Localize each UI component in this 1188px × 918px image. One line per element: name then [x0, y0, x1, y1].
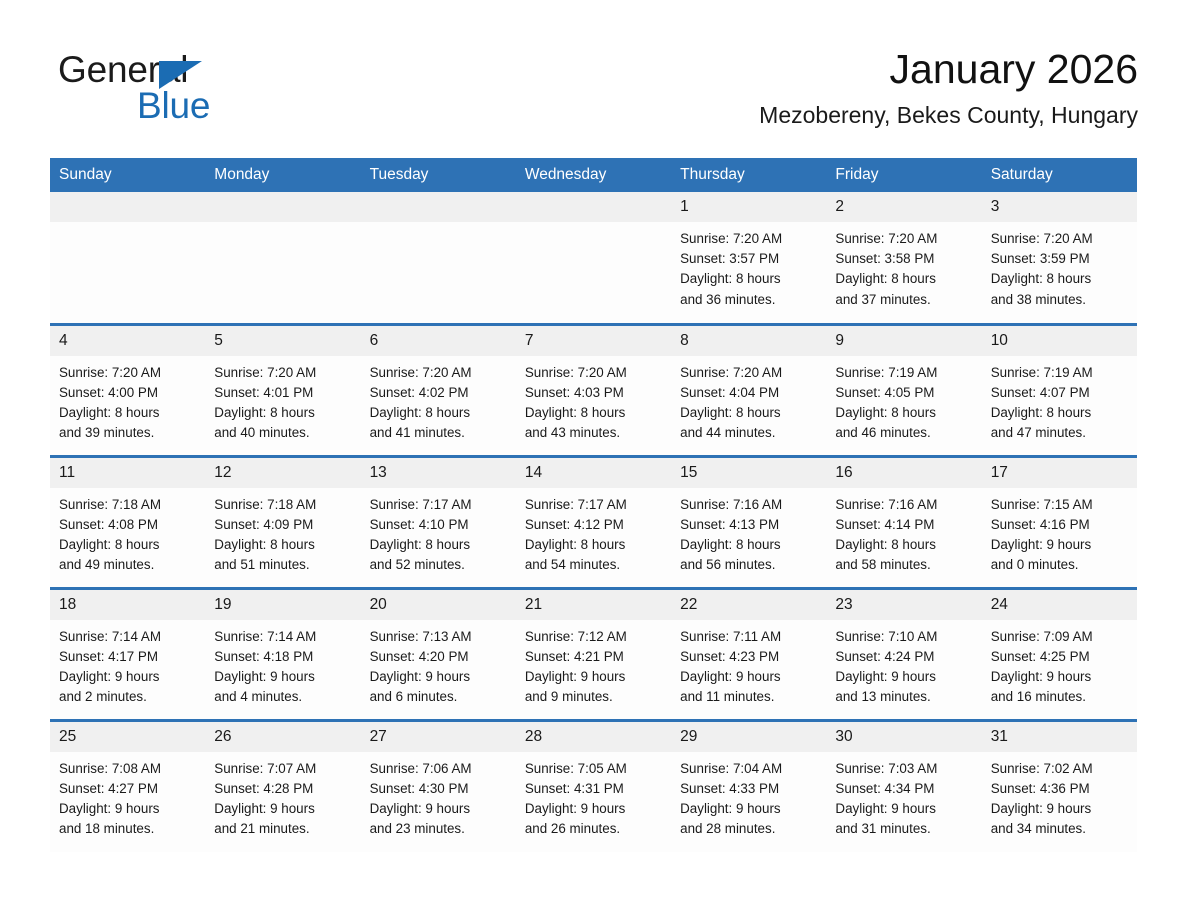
sunrise-text: Sunrise: 7:10 AM: [835, 627, 973, 647]
calendar-week-row: 4Sunrise: 7:20 AMSunset: 4:00 PMDaylight…: [50, 324, 1137, 456]
daylight-text-line1: Daylight: 8 hours: [835, 535, 973, 555]
calendar-week-row: 11Sunrise: 7:18 AMSunset: 4:08 PMDayligh…: [50, 456, 1137, 588]
daylight-text-line2: and 6 minutes.: [370, 687, 508, 707]
daylight-text-line1: Daylight: 9 hours: [59, 667, 197, 687]
sunrise-text: Sunrise: 7:07 AM: [214, 759, 352, 779]
day-details: Sunrise: 7:16 AMSunset: 4:14 PMDaylight:…: [826, 488, 981, 576]
sunset-text: Sunset: 4:14 PM: [835, 515, 973, 535]
sunrise-text: Sunrise: 7:16 AM: [680, 495, 818, 515]
day-number: 6: [361, 326, 516, 356]
day-details: Sunrise: 7:05 AMSunset: 4:31 PMDaylight:…: [516, 752, 671, 840]
logo-text-blue: Blue: [137, 86, 210, 126]
day-cell[interactable]: 25Sunrise: 7:08 AMSunset: 4:27 PMDayligh…: [50, 720, 205, 852]
daylight-text-line1: Daylight: 8 hours: [525, 403, 663, 423]
calendar-week-row: 18Sunrise: 7:14 AMSunset: 4:17 PMDayligh…: [50, 588, 1137, 720]
sunset-text: Sunset: 4:23 PM: [680, 647, 818, 667]
daylight-text-line2: and 36 minutes.: [680, 290, 818, 310]
sunrise-text: Sunrise: 7:18 AM: [214, 495, 352, 515]
day-details: Sunrise: 7:03 AMSunset: 4:34 PMDaylight:…: [826, 752, 981, 840]
day-cell[interactable]: 13Sunrise: 7:17 AMSunset: 4:10 PMDayligh…: [361, 456, 516, 588]
daylight-text-line2: and 0 minutes.: [991, 555, 1129, 575]
sunrise-text: Sunrise: 7:17 AM: [525, 495, 663, 515]
day-details: Sunrise: 7:18 AMSunset: 4:08 PMDaylight:…: [50, 488, 205, 576]
day-number: 5: [205, 326, 360, 356]
day-number: 18: [50, 590, 205, 620]
day-number: 21: [516, 590, 671, 620]
day-number: 22: [671, 590, 826, 620]
daylight-text-line1: Daylight: 9 hours: [680, 799, 818, 819]
sunset-text: Sunset: 4:07 PM: [991, 383, 1129, 403]
daylight-text-line2: and 4 minutes.: [214, 687, 352, 707]
sunset-text: Sunset: 3:58 PM: [835, 249, 973, 269]
day-cell[interactable]: 28Sunrise: 7:05 AMSunset: 4:31 PMDayligh…: [516, 720, 671, 852]
sunrise-text: Sunrise: 7:20 AM: [525, 363, 663, 383]
daylight-text-line2: and 21 minutes.: [214, 819, 352, 839]
day-number: 10: [982, 326, 1137, 356]
sunrise-text: Sunrise: 7:19 AM: [835, 363, 973, 383]
daylight-text-line2: and 23 minutes.: [370, 819, 508, 839]
daylight-text-line2: and 40 minutes.: [214, 423, 352, 443]
day-number: 3: [982, 192, 1137, 222]
page-subtitle: Mezobereny, Bekes County, Hungary: [759, 94, 1138, 132]
day-number: [205, 192, 360, 222]
day-cell[interactable]: 26Sunrise: 7:07 AMSunset: 4:28 PMDayligh…: [205, 720, 360, 852]
daylight-text-line1: Daylight: 9 hours: [680, 667, 818, 687]
day-details: Sunrise: 7:20 AMSunset: 4:00 PMDaylight:…: [50, 356, 205, 444]
sunrise-text: Sunrise: 7:15 AM: [991, 495, 1129, 515]
calendar-header-row: Sunday Monday Tuesday Wednesday Thursday…: [50, 158, 1137, 192]
day-details: Sunrise: 7:12 AMSunset: 4:21 PMDaylight:…: [516, 620, 671, 708]
day-details: Sunrise: 7:13 AMSunset: 4:20 PMDaylight:…: [361, 620, 516, 708]
daylight-text-line1: Daylight: 8 hours: [991, 403, 1129, 423]
day-cell[interactable]: 10Sunrise: 7:19 AMSunset: 4:07 PMDayligh…: [982, 324, 1137, 456]
day-number: 11: [50, 458, 205, 488]
sunrise-text: Sunrise: 7:20 AM: [370, 363, 508, 383]
calendar-body: 1Sunrise: 7:20 AMSunset: 3:57 PMDaylight…: [50, 192, 1137, 852]
daylight-text-line1: Daylight: 8 hours: [680, 269, 818, 289]
sunrise-text: Sunrise: 7:11 AM: [680, 627, 818, 647]
daylight-text-line2: and 39 minutes.: [59, 423, 197, 443]
daylight-text-line2: and 41 minutes.: [370, 423, 508, 443]
sunrise-text: Sunrise: 7:17 AM: [370, 495, 508, 515]
day-details: Sunrise: 7:04 AMSunset: 4:33 PMDaylight:…: [671, 752, 826, 840]
day-number: 25: [50, 722, 205, 752]
daylight-text-line2: and 31 minutes.: [835, 819, 973, 839]
day-number: 12: [205, 458, 360, 488]
sunset-text: Sunset: 4:09 PM: [214, 515, 352, 535]
day-number: 20: [361, 590, 516, 620]
sunrise-text: Sunrise: 7:14 AM: [214, 627, 352, 647]
daylight-text-line2: and 9 minutes.: [525, 687, 663, 707]
day-cell[interactable]: 5Sunrise: 7:20 AMSunset: 4:01 PMDaylight…: [205, 324, 360, 456]
page-header: General Blue January 2026 Mezobereny, Be…: [50, 44, 1138, 152]
day-cell[interactable]: 21Sunrise: 7:12 AMSunset: 4:21 PMDayligh…: [516, 588, 671, 720]
daylight-text-line2: and 43 minutes.: [525, 423, 663, 443]
day-number: [50, 192, 205, 222]
sunset-text: Sunset: 4:02 PM: [370, 383, 508, 403]
day-number: [516, 192, 671, 222]
day-number: 14: [516, 458, 671, 488]
sunset-text: Sunset: 4:21 PM: [525, 647, 663, 667]
daylight-text-line2: and 58 minutes.: [835, 555, 973, 575]
sunset-text: Sunset: 4:17 PM: [59, 647, 197, 667]
daylight-text-line2: and 26 minutes.: [525, 819, 663, 839]
daylight-text-line1: Daylight: 9 hours: [214, 667, 352, 687]
sunset-text: Sunset: 4:33 PM: [680, 779, 818, 799]
day-details: Sunrise: 7:15 AMSunset: 4:16 PMDaylight:…: [982, 488, 1137, 576]
title-block: January 2026 Mezobereny, Bekes County, H…: [759, 44, 1138, 132]
daylight-text-line1: Daylight: 9 hours: [835, 799, 973, 819]
daylight-text-line1: Daylight: 8 hours: [680, 403, 818, 423]
daylight-text-line2: and 54 minutes.: [525, 555, 663, 575]
daylight-text-line1: Daylight: 8 hours: [370, 535, 508, 555]
sunset-text: Sunset: 3:59 PM: [991, 249, 1129, 269]
sunset-text: Sunset: 4:04 PM: [680, 383, 818, 403]
daylight-text-line1: Daylight: 9 hours: [835, 667, 973, 687]
day-cell[interactable]: 15Sunrise: 7:16 AMSunset: 4:13 PMDayligh…: [671, 456, 826, 588]
sunset-text: Sunset: 4:24 PM: [835, 647, 973, 667]
sunrise-text: Sunrise: 7:18 AM: [59, 495, 197, 515]
sunrise-text: Sunrise: 7:12 AM: [525, 627, 663, 647]
calendar-week-row: 25Sunrise: 7:08 AMSunset: 4:27 PMDayligh…: [50, 720, 1137, 852]
sunrise-text: Sunrise: 7:19 AM: [991, 363, 1129, 383]
generalblue-logo[interactable]: General Blue: [58, 50, 318, 146]
daylight-text-line1: Daylight: 8 hours: [991, 269, 1129, 289]
day-number: 16: [826, 458, 981, 488]
day-number: 4: [50, 326, 205, 356]
sunrise-text: Sunrise: 7:20 AM: [680, 229, 818, 249]
day-cell[interactable]: 6Sunrise: 7:20 AMSunset: 4:02 PMDaylight…: [361, 324, 516, 456]
day-cell[interactable]: 9Sunrise: 7:19 AMSunset: 4:05 PMDaylight…: [826, 324, 981, 456]
sunset-text: Sunset: 4:13 PM: [680, 515, 818, 535]
sunrise-text: Sunrise: 7:05 AM: [525, 759, 663, 779]
day-details: Sunrise: 7:06 AMSunset: 4:30 PMDaylight:…: [361, 752, 516, 840]
daylight-text-line1: Daylight: 8 hours: [214, 403, 352, 423]
day-cell[interactable]: 8Sunrise: 7:20 AMSunset: 4:04 PMDaylight…: [671, 324, 826, 456]
day-cell[interactable]: 14Sunrise: 7:17 AMSunset: 4:12 PMDayligh…: [516, 456, 671, 588]
sunset-text: Sunset: 4:10 PM: [370, 515, 508, 535]
sunset-text: Sunset: 4:08 PM: [59, 515, 197, 535]
sunrise-text: Sunrise: 7:20 AM: [835, 229, 973, 249]
daylight-text-line1: Daylight: 9 hours: [991, 799, 1129, 819]
daylight-text-line2: and 13 minutes.: [835, 687, 973, 707]
sunset-text: Sunset: 3:57 PM: [680, 249, 818, 269]
day-details: Sunrise: 7:20 AMSunset: 3:59 PMDaylight:…: [982, 222, 1137, 310]
daylight-text-line2: and 38 minutes.: [991, 290, 1129, 310]
day-cell[interactable]: 2Sunrise: 7:20 AMSunset: 3:58 PMDaylight…: [826, 192, 981, 324]
daylight-text-line2: and 51 minutes.: [214, 555, 352, 575]
day-details: Sunrise: 7:20 AMSunset: 4:04 PMDaylight:…: [671, 356, 826, 444]
day-details: Sunrise: 7:20 AMSunset: 3:57 PMDaylight:…: [671, 222, 826, 310]
day-number: 29: [671, 722, 826, 752]
sunset-text: Sunset: 4:25 PM: [991, 647, 1129, 667]
day-details: Sunrise: 7:20 AMSunset: 4:01 PMDaylight:…: [205, 356, 360, 444]
daylight-text-line1: Daylight: 8 hours: [680, 535, 818, 555]
day-cell[interactable]: 3Sunrise: 7:20 AMSunset: 3:59 PMDaylight…: [982, 192, 1137, 324]
day-details: Sunrise: 7:20 AMSunset: 4:02 PMDaylight:…: [361, 356, 516, 444]
weekday-header-friday: Friday: [826, 158, 981, 192]
day-number: 9: [826, 326, 981, 356]
day-number: 19: [205, 590, 360, 620]
day-details: Sunrise: 7:02 AMSunset: 4:36 PMDaylight:…: [982, 752, 1137, 840]
day-cell[interactable]: 17Sunrise: 7:15 AMSunset: 4:16 PMDayligh…: [982, 456, 1137, 588]
day-cell[interactable]: 23Sunrise: 7:10 AMSunset: 4:24 PMDayligh…: [826, 588, 981, 720]
day-number: 2: [826, 192, 981, 222]
daylight-text-line1: Daylight: 9 hours: [370, 799, 508, 819]
sunset-text: Sunset: 4:20 PM: [370, 647, 508, 667]
day-details: Sunrise: 7:20 AMSunset: 4:03 PMDaylight:…: [516, 356, 671, 444]
daylight-text-line2: and 56 minutes.: [680, 555, 818, 575]
daylight-text-line1: Daylight: 9 hours: [991, 535, 1129, 555]
day-details: Sunrise: 7:17 AMSunset: 4:12 PMDaylight:…: [516, 488, 671, 576]
day-cell[interactable]: 20Sunrise: 7:13 AMSunset: 4:20 PMDayligh…: [361, 588, 516, 720]
daylight-text-line2: and 37 minutes.: [835, 290, 973, 310]
weekday-header-sunday: Sunday: [50, 158, 205, 192]
weekday-header-tuesday: Tuesday: [361, 158, 516, 192]
sunrise-text: Sunrise: 7:20 AM: [214, 363, 352, 383]
day-cell[interactable]: 7Sunrise: 7:20 AMSunset: 4:03 PMDaylight…: [516, 324, 671, 456]
day-number: 26: [205, 722, 360, 752]
daylight-text-line2: and 52 minutes.: [370, 555, 508, 575]
sunset-text: Sunset: 4:34 PM: [835, 779, 973, 799]
day-details: Sunrise: 7:19 AMSunset: 4:07 PMDaylight:…: [982, 356, 1137, 444]
daylight-text-line1: Daylight: 9 hours: [525, 667, 663, 687]
day-number: 27: [361, 722, 516, 752]
day-cell-empty: [516, 192, 671, 324]
day-cell[interactable]: 16Sunrise: 7:16 AMSunset: 4:14 PMDayligh…: [826, 456, 981, 588]
sunset-text: Sunset: 4:03 PM: [525, 383, 663, 403]
sunset-text: Sunset: 4:05 PM: [835, 383, 973, 403]
daylight-text-line1: Daylight: 9 hours: [991, 667, 1129, 687]
daylight-text-line2: and 46 minutes.: [835, 423, 973, 443]
day-number: 1: [671, 192, 826, 222]
day-cell[interactable]: 12Sunrise: 7:18 AMSunset: 4:09 PMDayligh…: [205, 456, 360, 588]
day-cell[interactable]: 29Sunrise: 7:04 AMSunset: 4:33 PMDayligh…: [671, 720, 826, 852]
day-number: 30: [826, 722, 981, 752]
day-number: [361, 192, 516, 222]
weekday-header-saturday: Saturday: [982, 158, 1137, 192]
sunset-text: Sunset: 4:16 PM: [991, 515, 1129, 535]
daylight-text-line2: and 18 minutes.: [59, 819, 197, 839]
day-number: 24: [982, 590, 1137, 620]
calendar-page: General Blue January 2026 Mezobereny, Be…: [0, 0, 1188, 918]
daylight-text-line1: Daylight: 8 hours: [370, 403, 508, 423]
daylight-text-line1: Daylight: 9 hours: [525, 799, 663, 819]
sunset-text: Sunset: 4:31 PM: [525, 779, 663, 799]
sunrise-text: Sunrise: 7:20 AM: [991, 229, 1129, 249]
daylight-text-line2: and 44 minutes.: [680, 423, 818, 443]
sunrise-text: Sunrise: 7:04 AM: [680, 759, 818, 779]
day-details: Sunrise: 7:20 AMSunset: 3:58 PMDaylight:…: [826, 222, 981, 310]
sunset-text: Sunset: 4:00 PM: [59, 383, 197, 403]
daylight-text-line2: and 2 minutes.: [59, 687, 197, 707]
sunset-text: Sunset: 4:27 PM: [59, 779, 197, 799]
day-cell[interactable]: 31Sunrise: 7:02 AMSunset: 4:36 PMDayligh…: [982, 720, 1137, 852]
sunrise-text: Sunrise: 7:03 AM: [835, 759, 973, 779]
sunrise-text: Sunrise: 7:20 AM: [59, 363, 197, 383]
day-number: 23: [826, 590, 981, 620]
sunset-text: Sunset: 4:01 PM: [214, 383, 352, 403]
daylight-text-line1: Daylight: 8 hours: [59, 403, 197, 423]
daylight-text-line1: Daylight: 8 hours: [835, 269, 973, 289]
day-details: Sunrise: 7:11 AMSunset: 4:23 PMDaylight:…: [671, 620, 826, 708]
day-number: 8: [671, 326, 826, 356]
sunrise-text: Sunrise: 7:16 AM: [835, 495, 973, 515]
daylight-text-line2: and 11 minutes.: [680, 687, 818, 707]
day-cell[interactable]: 4Sunrise: 7:20 AMSunset: 4:00 PMDaylight…: [50, 324, 205, 456]
sunrise-text: Sunrise: 7:08 AM: [59, 759, 197, 779]
calendar-table: Sunday Monday Tuesday Wednesday Thursday…: [50, 158, 1137, 852]
day-cell-empty: [50, 192, 205, 324]
day-cell[interactable]: 1Sunrise: 7:20 AMSunset: 3:57 PMDaylight…: [671, 192, 826, 324]
sunset-text: Sunset: 4:36 PM: [991, 779, 1129, 799]
sunset-text: Sunset: 4:28 PM: [214, 779, 352, 799]
day-details: Sunrise: 7:14 AMSunset: 4:17 PMDaylight:…: [50, 620, 205, 708]
day-number: 13: [361, 458, 516, 488]
day-cell-empty: [361, 192, 516, 324]
weekday-header-wednesday: Wednesday: [516, 158, 671, 192]
sunrise-text: Sunrise: 7:09 AM: [991, 627, 1129, 647]
day-details: Sunrise: 7:17 AMSunset: 4:10 PMDaylight:…: [361, 488, 516, 576]
day-cell[interactable]: 18Sunrise: 7:14 AMSunset: 4:17 PMDayligh…: [50, 588, 205, 720]
day-details: Sunrise: 7:07 AMSunset: 4:28 PMDaylight:…: [205, 752, 360, 840]
sunrise-text: Sunrise: 7:13 AM: [370, 627, 508, 647]
day-cell[interactable]: 11Sunrise: 7:18 AMSunset: 4:08 PMDayligh…: [50, 456, 205, 588]
day-details: Sunrise: 7:16 AMSunset: 4:13 PMDaylight:…: [671, 488, 826, 576]
daylight-text-line2: and 28 minutes.: [680, 819, 818, 839]
day-details: Sunrise: 7:09 AMSunset: 4:25 PMDaylight:…: [982, 620, 1137, 708]
day-cell[interactable]: 19Sunrise: 7:14 AMSunset: 4:18 PMDayligh…: [205, 588, 360, 720]
sunset-text: Sunset: 4:12 PM: [525, 515, 663, 535]
day-cell[interactable]: 27Sunrise: 7:06 AMSunset: 4:30 PMDayligh…: [361, 720, 516, 852]
daylight-text-line1: Daylight: 8 hours: [214, 535, 352, 555]
daylight-text-line1: Daylight: 9 hours: [214, 799, 352, 819]
daylight-text-line1: Daylight: 9 hours: [370, 667, 508, 687]
daylight-text-line2: and 16 minutes.: [991, 687, 1129, 707]
day-details: Sunrise: 7:14 AMSunset: 4:18 PMDaylight:…: [205, 620, 360, 708]
day-cell[interactable]: 22Sunrise: 7:11 AMSunset: 4:23 PMDayligh…: [671, 588, 826, 720]
day-details: Sunrise: 7:18 AMSunset: 4:09 PMDaylight:…: [205, 488, 360, 576]
day-cell[interactable]: 30Sunrise: 7:03 AMSunset: 4:34 PMDayligh…: [826, 720, 981, 852]
weekday-header-thursday: Thursday: [671, 158, 826, 192]
sunrise-text: Sunrise: 7:20 AM: [680, 363, 818, 383]
daylight-text-line1: Daylight: 8 hours: [835, 403, 973, 423]
day-number: 7: [516, 326, 671, 356]
weekday-header-monday: Monday: [205, 158, 360, 192]
page-title: January 2026: [759, 44, 1138, 94]
daylight-text-line2: and 49 minutes.: [59, 555, 197, 575]
calendar-week-row: 1Sunrise: 7:20 AMSunset: 3:57 PMDaylight…: [50, 192, 1137, 324]
daylight-text-line1: Daylight: 9 hours: [59, 799, 197, 819]
day-details: Sunrise: 7:10 AMSunset: 4:24 PMDaylight:…: [826, 620, 981, 708]
day-number: 17: [982, 458, 1137, 488]
day-cell-empty: [205, 192, 360, 324]
sunrise-text: Sunrise: 7:06 AM: [370, 759, 508, 779]
day-cell[interactable]: 24Sunrise: 7:09 AMSunset: 4:25 PMDayligh…: [982, 588, 1137, 720]
day-details: Sunrise: 7:08 AMSunset: 4:27 PMDaylight:…: [50, 752, 205, 840]
day-number: 31: [982, 722, 1137, 752]
daylight-text-line1: Daylight: 8 hours: [59, 535, 197, 555]
day-details: Sunrise: 7:19 AMSunset: 4:05 PMDaylight:…: [826, 356, 981, 444]
sunset-text: Sunset: 4:30 PM: [370, 779, 508, 799]
day-number: 28: [516, 722, 671, 752]
daylight-text-line2: and 34 minutes.: [991, 819, 1129, 839]
daylight-text-line2: and 47 minutes.: [991, 423, 1129, 443]
sunrise-text: Sunrise: 7:14 AM: [59, 627, 197, 647]
daylight-text-line1: Daylight: 8 hours: [525, 535, 663, 555]
day-number: 15: [671, 458, 826, 488]
sunrise-text: Sunrise: 7:02 AM: [991, 759, 1129, 779]
sunset-text: Sunset: 4:18 PM: [214, 647, 352, 667]
